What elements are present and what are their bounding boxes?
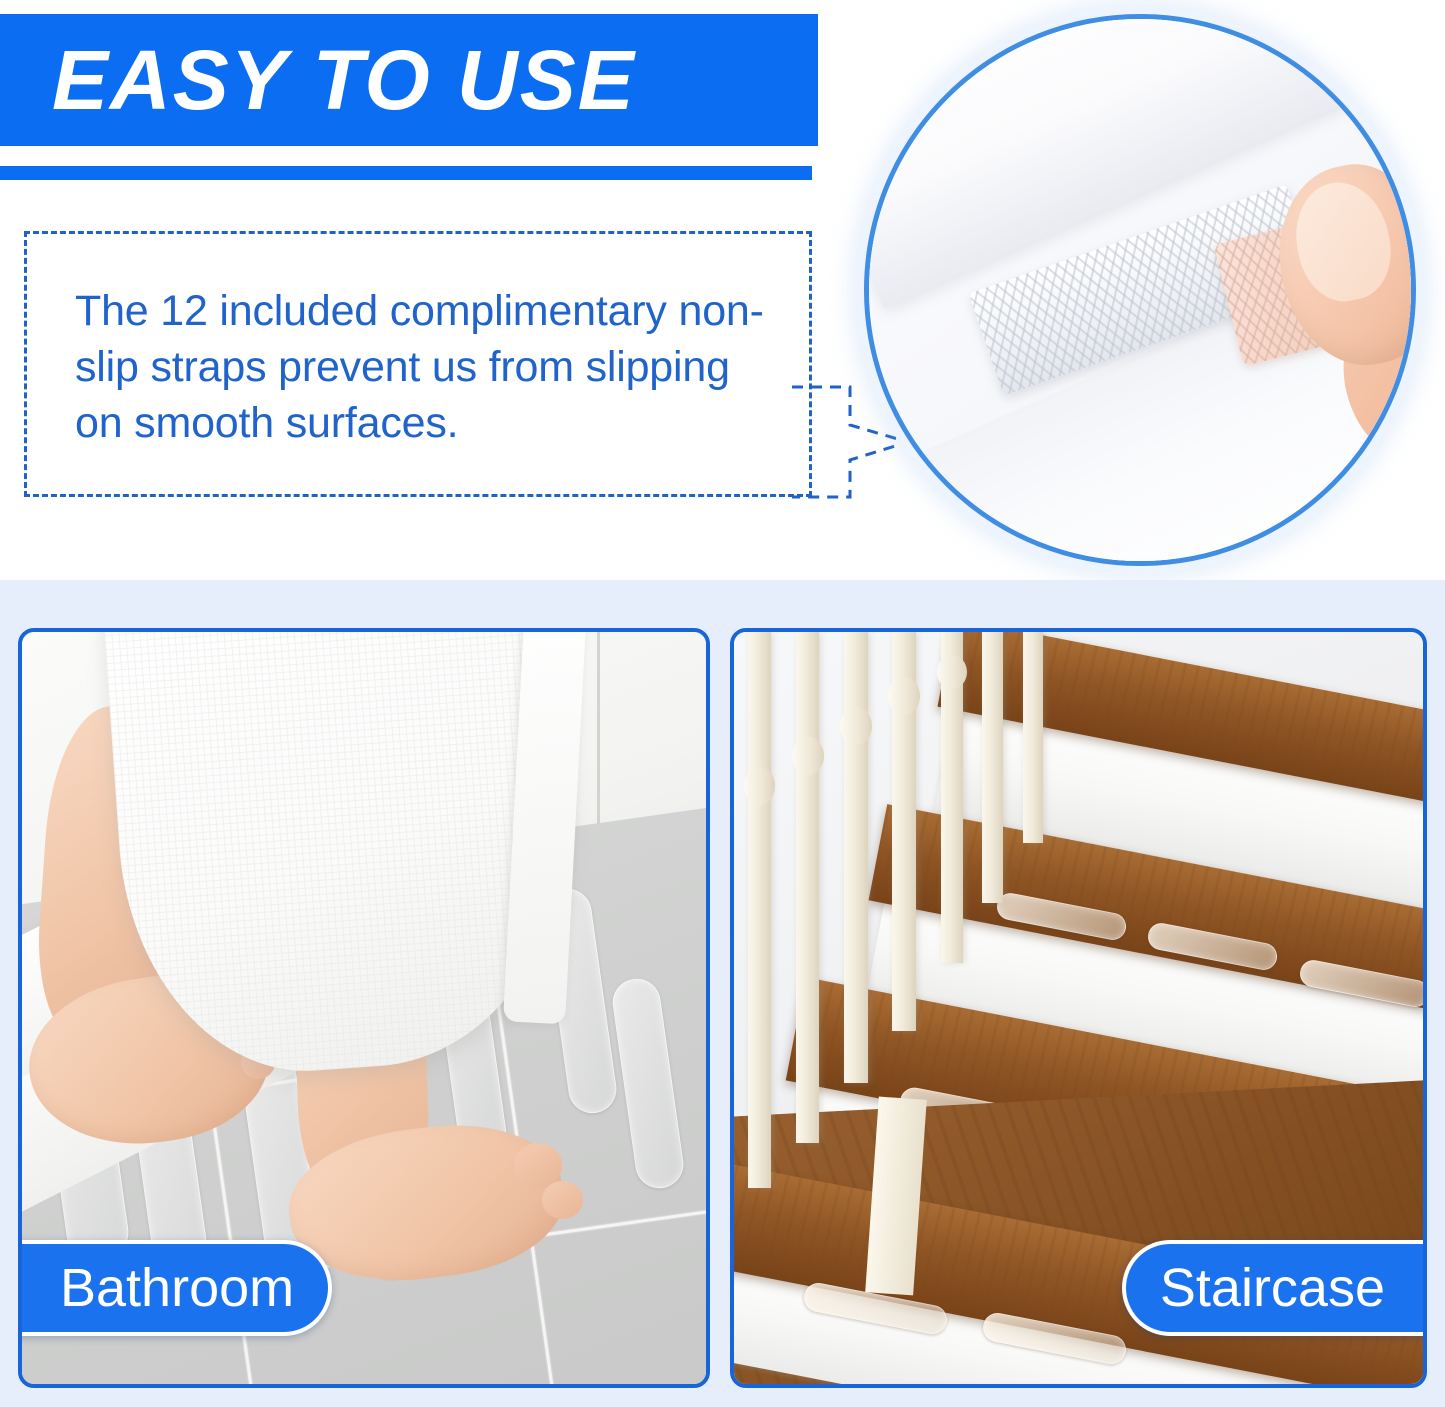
top-section: EASY TO USE The 12 included complimentar… xyxy=(0,0,1445,580)
callout-box: The 12 included complimentary non-slip s… xyxy=(24,231,812,497)
bathroom-label-text: Bathroom xyxy=(60,1261,294,1315)
header-banner: EASY TO USE xyxy=(0,14,818,146)
baluster-knob xyxy=(888,677,920,715)
use-case-section: Bathroom xyxy=(0,580,1445,1407)
baluster-knob xyxy=(840,707,872,745)
baluster xyxy=(796,632,819,1143)
bathroom-label-badge: Bathroom xyxy=(18,1240,332,1336)
baluster xyxy=(748,632,771,1188)
baluster xyxy=(844,632,867,1083)
baluster-knob xyxy=(744,767,776,805)
baluster-knob xyxy=(937,655,967,690)
header-underline-rule xyxy=(0,166,812,180)
baluster-knob xyxy=(792,737,824,775)
baluster xyxy=(982,632,1003,903)
staircase-label-text: Staircase xyxy=(1160,1261,1385,1315)
staircase-label-badge: Staircase xyxy=(1122,1240,1427,1336)
staircase-photo-panel: Staircase xyxy=(730,628,1427,1388)
bathroom-photo-panel: Bathroom xyxy=(18,628,710,1388)
callout-text: The 12 included complimentary non-slip s… xyxy=(75,284,775,452)
page-title: EASY TO USE xyxy=(0,38,636,122)
toe xyxy=(542,1181,583,1219)
product-closeup-photo xyxy=(864,14,1416,566)
baluster xyxy=(1023,632,1042,843)
